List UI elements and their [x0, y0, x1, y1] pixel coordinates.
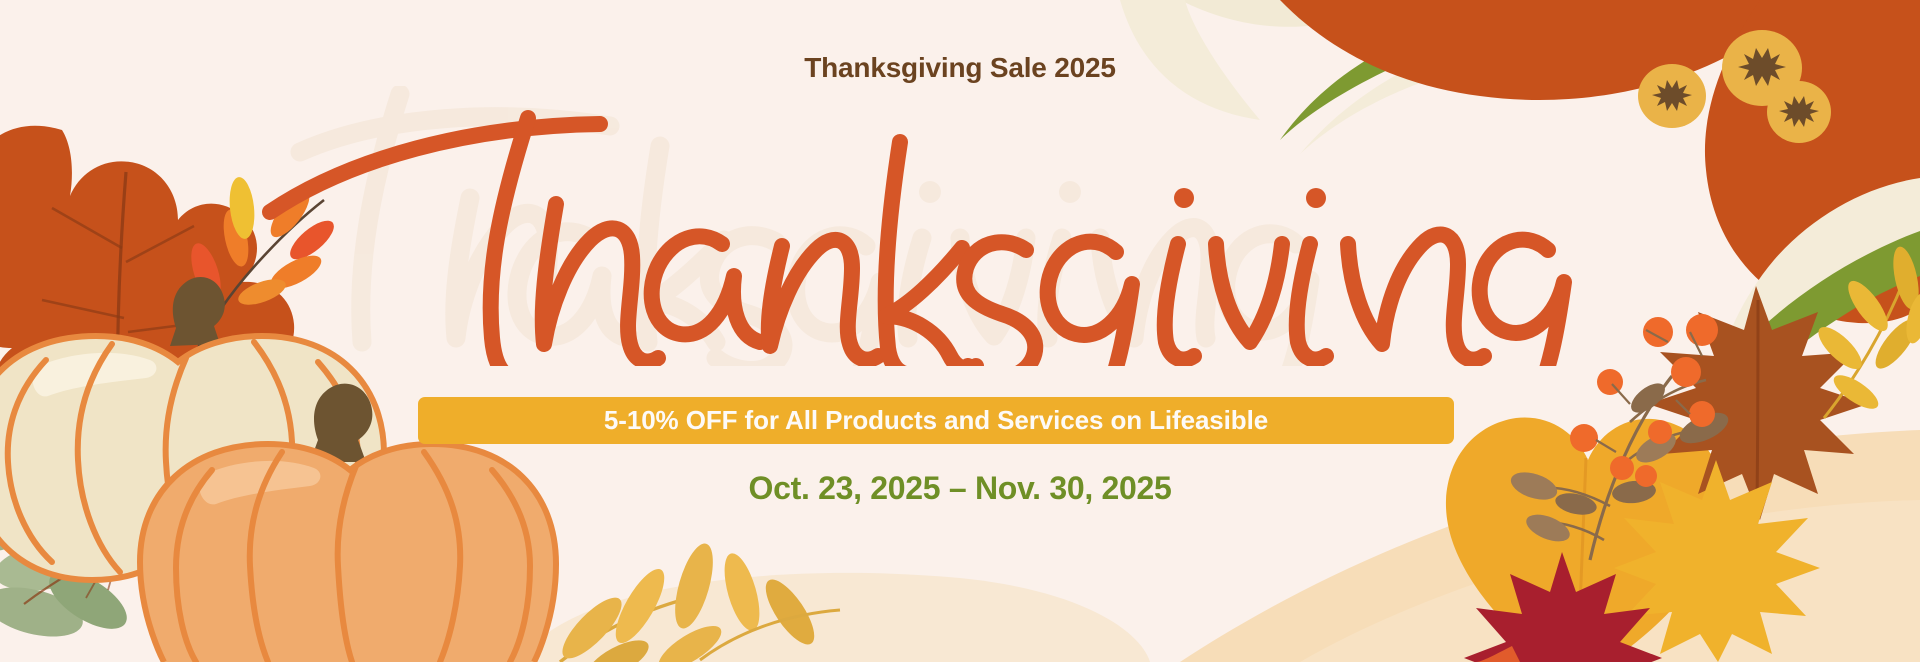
sale-eyebrow-title: Thanksgiving Sale 2025 — [0, 52, 1920, 84]
offer-text: 5-10% OFF for All Products and Services … — [604, 405, 1268, 436]
thanksgiving-script-svg — [0, 86, 1920, 366]
berry — [1570, 424, 1598, 452]
thanksgiving-sale-banner: Thanksgiving Sale 2025 — [0, 0, 1920, 662]
thanksgiving-wordmark — [0, 86, 1920, 366]
berry — [1648, 420, 1672, 444]
promo-date-range: Oct. 23, 2025 – Nov. 30, 2025 — [0, 470, 1920, 507]
offer-badge[interactable]: 5-10% OFF for All Products and Services … — [418, 397, 1454, 444]
berry — [1689, 401, 1715, 427]
